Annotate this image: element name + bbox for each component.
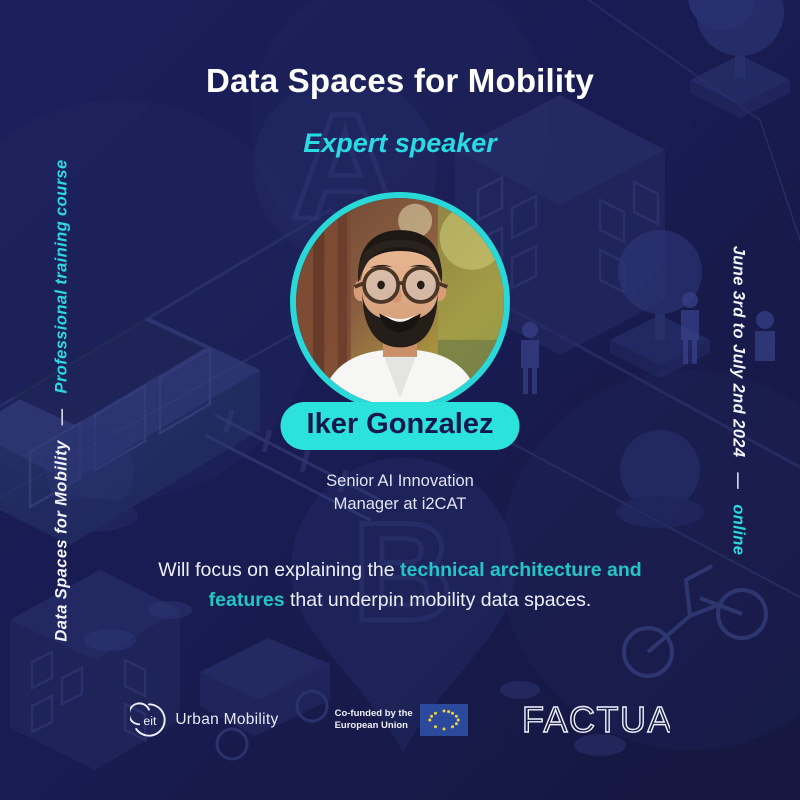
- description-part2: that underpin mobility data spaces.: [285, 589, 592, 611]
- speaker-name-badge: Iker Gonzalez: [281, 402, 520, 450]
- left-rail-separator: —: [53, 398, 71, 435]
- svg-text:eit: eit: [144, 714, 158, 728]
- left-rail-text: Data Spaces for Mobility — Professional …: [53, 159, 72, 641]
- factual-wordmark: FACTUAL: [522, 699, 670, 740]
- right-vertical-rail: June 3rd to July 2nd 2024 — online: [698, 0, 778, 800]
- description-part1: Will focus on explaining the: [158, 559, 400, 581]
- page-subtitle: Expert speaker: [0, 128, 800, 159]
- eu-funding-line2: European Union: [335, 720, 413, 732]
- speaker-portrait: [290, 192, 510, 412]
- footer-logos: eit Urban Mobility Co-funded by the Euro…: [0, 692, 800, 748]
- speaker-role-line1: Senior AI Innovation: [0, 470, 800, 493]
- eu-funding-text: Co-funded by the European Union: [335, 708, 413, 731]
- eit-circle-icon: eit: [130, 701, 168, 739]
- logo-eit-urban-mobility: eit Urban Mobility: [130, 701, 278, 739]
- left-vertical-rail: Data Spaces for Mobility — Professional …: [22, 0, 102, 800]
- portrait-photo: [296, 198, 504, 406]
- page-title: Data Spaces for Mobility: [0, 62, 800, 100]
- session-description: Will focus on explaining the technical a…: [150, 556, 650, 615]
- speaker-role: Senior AI Innovation Manager at i2CAT: [0, 470, 800, 517]
- speaker-role-line2: Manager at i2CAT: [0, 493, 800, 516]
- logo-european-union: Co-funded by the European Union: [335, 704, 468, 736]
- right-rail-dates: June 3rd to July 2nd 2024: [730, 245, 748, 457]
- left-rail-kind: Professional training course: [53, 159, 71, 393]
- logo-factual: FACTUAL: [520, 699, 670, 741]
- eu-funding-line1: Co-funded by the: [335, 708, 413, 720]
- poster-canvas: A B: [0, 0, 800, 800]
- eu-flag-icon: [420, 704, 468, 736]
- eit-wordmark: Urban Mobility: [175, 711, 278, 729]
